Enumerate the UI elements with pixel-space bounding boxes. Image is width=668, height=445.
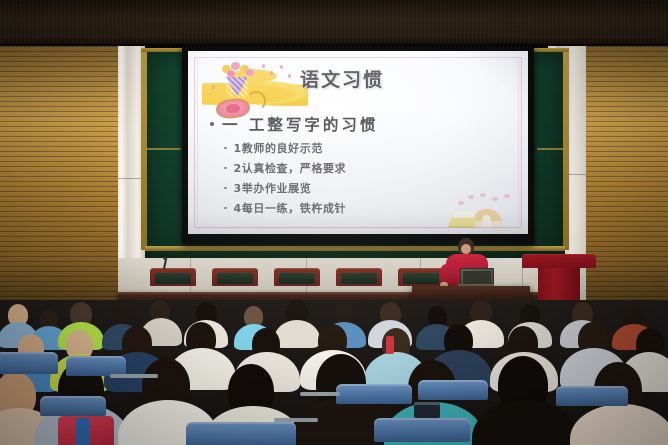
projection-screen-frame: 语文习惯 一 工整写字的习惯 1教师的良好示范 2认真检查，严格要求 3举办 (182, 46, 534, 244)
audience-shoulders (472, 400, 578, 445)
flower-icon (231, 62, 240, 70)
backpack-strap (76, 418, 90, 445)
flower-icon (246, 69, 254, 76)
bullet-dot-icon (210, 122, 214, 126)
flower-icon (237, 70, 245, 77)
petal-icon (468, 195, 474, 199)
stage-chair (150, 268, 196, 292)
presenter-face (461, 244, 471, 254)
petal-icon (492, 197, 498, 201)
seat-armrest (274, 418, 318, 422)
chalkboard-panel-divider (537, 148, 565, 150)
wood-slat-wall-left (0, 46, 118, 320)
audience-shoulders (274, 320, 320, 348)
slide-sub-bullet: 2认真检查，严格要求 (224, 160, 514, 176)
calculator (414, 402, 440, 418)
seat-armrest (300, 392, 340, 396)
petal-icon (270, 71, 273, 75)
slide-sub-bullet-label: 3举办作业展览 (234, 180, 312, 196)
stage-chair (212, 268, 258, 292)
auditorium-seat (186, 422, 296, 445)
auditorium-seat (336, 384, 412, 404)
petal-icon (480, 193, 486, 197)
slide-main-bullet: 一 工整写字的习惯 (210, 113, 514, 135)
water-bottle (386, 336, 394, 354)
bullet-dot-icon (224, 187, 227, 190)
slide-main-bullet-label: 一 工整写字的习惯 (222, 113, 378, 135)
bullet-dot-icon (224, 167, 227, 170)
lecture-hall-photo: 语文习惯 一 工整写字的习惯 1教师的良好示范 2认真检查，严格要求 3举办 (0, 0, 668, 445)
stage-chair (274, 268, 320, 292)
chalkboard-panel-divider (147, 148, 181, 150)
auditorium-seat (374, 418, 470, 442)
petal-icon (458, 201, 464, 205)
petal-icon (262, 64, 265, 68)
book-icon (452, 212, 476, 218)
chalkboard-rail (145, 246, 565, 251)
flower-icon (227, 70, 235, 77)
audience-shoulders (570, 404, 668, 445)
auditorium-seat (40, 396, 106, 416)
books-desk-clipart (450, 193, 516, 229)
wood-slat-wall-right (586, 46, 668, 320)
seat-armrest (110, 374, 158, 378)
bullet-dot-icon (224, 207, 227, 210)
flower-vase-clipart (196, 61, 308, 119)
slide-sub-bullet-label: 1教师的良好示范 (234, 140, 323, 156)
projected-slide: 语文习惯 一 工整写字的习惯 1教师的良好示范 2认真检查，严格要求 3举办 (188, 51, 528, 234)
auditorium-seat (418, 380, 488, 400)
stage-chair (336, 268, 382, 292)
auditorium-seat (0, 352, 58, 374)
vase-icon (226, 77, 248, 97)
slide-sub-bullet-label: 2认真检查，严格要求 (234, 160, 347, 176)
book-icon (449, 217, 478, 226)
audience (0, 300, 668, 445)
petal-icon (504, 194, 510, 198)
petal-icon (288, 74, 291, 78)
bullet-dot-icon (224, 147, 227, 150)
auditorium-seat (66, 356, 126, 376)
petal-icon (212, 85, 215, 89)
ceiling-band (0, 0, 668, 46)
slide-sub-bullet: 1教师的良好示范 (224, 140, 514, 156)
petal-icon (280, 65, 283, 69)
auditorium-seat (556, 386, 628, 406)
slide-sub-bullet-label: 4每日一练，铁杵成针 (234, 200, 347, 216)
slide-title: 语文习惯 (300, 65, 384, 92)
